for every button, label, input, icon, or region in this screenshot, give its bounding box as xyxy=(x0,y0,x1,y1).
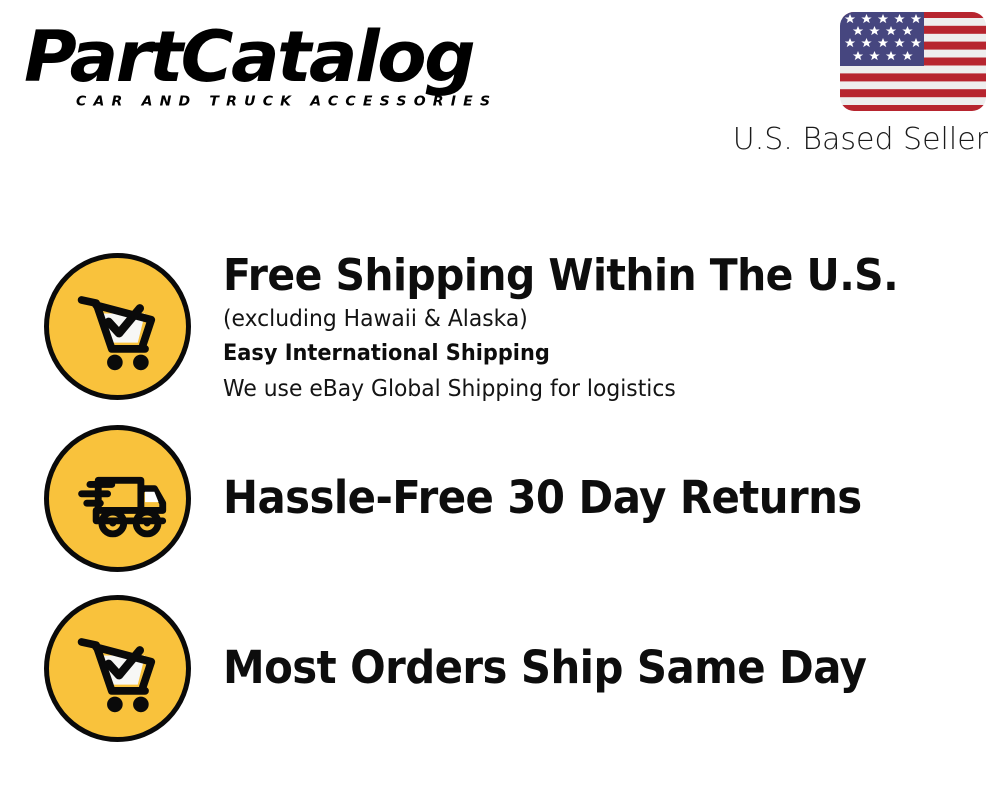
feature-row: Hassle-Free 30 Day Returns xyxy=(0,412,1000,584)
feature-headline: Hassle-Free 30 Day Returns xyxy=(223,472,927,524)
feature-headline: Most Orders Ship Same Day xyxy=(223,642,927,694)
seller-label: U.S. Based Seller xyxy=(718,122,988,158)
shopping-cart-check-icon xyxy=(44,253,191,400)
feature-text: Most Orders Ship Same Day xyxy=(223,642,1000,694)
feature-subline-secondary: We use eBay Global Shipping for logistic… xyxy=(223,372,942,406)
us-flag-icon xyxy=(838,10,988,113)
feature-subhead: Easy International Shipping xyxy=(223,336,942,372)
page-header: PartCatalog CAR AND TRUCK ACCESSORIES xyxy=(0,0,1000,175)
feature-headline: Free Shipping Within The U.S. xyxy=(223,250,927,302)
shopping-cart-check-icon xyxy=(44,595,191,742)
brand-tagline: CAR AND TRUCK ACCESSORIES xyxy=(76,94,497,109)
delivery-truck-icon xyxy=(44,425,191,572)
us-based-seller-badge: U.S. Based Seller xyxy=(718,10,988,158)
feature-row: Most Orders Ship Same Day xyxy=(0,582,1000,754)
brand-wordmark: PartCatalog xyxy=(24,22,508,92)
feature-text: Hassle-Free 30 Day Returns xyxy=(223,472,1000,524)
brand-logo[interactable]: PartCatalog CAR AND TRUCK ACCESSORIES xyxy=(24,22,494,117)
feature-subline: (excluding Hawaii & Alaska) xyxy=(223,302,942,336)
feature-text: Free Shipping Within The U.S. (excluding… xyxy=(223,250,1000,406)
feature-row: Free Shipping Within The U.S. (excluding… xyxy=(0,240,1000,412)
